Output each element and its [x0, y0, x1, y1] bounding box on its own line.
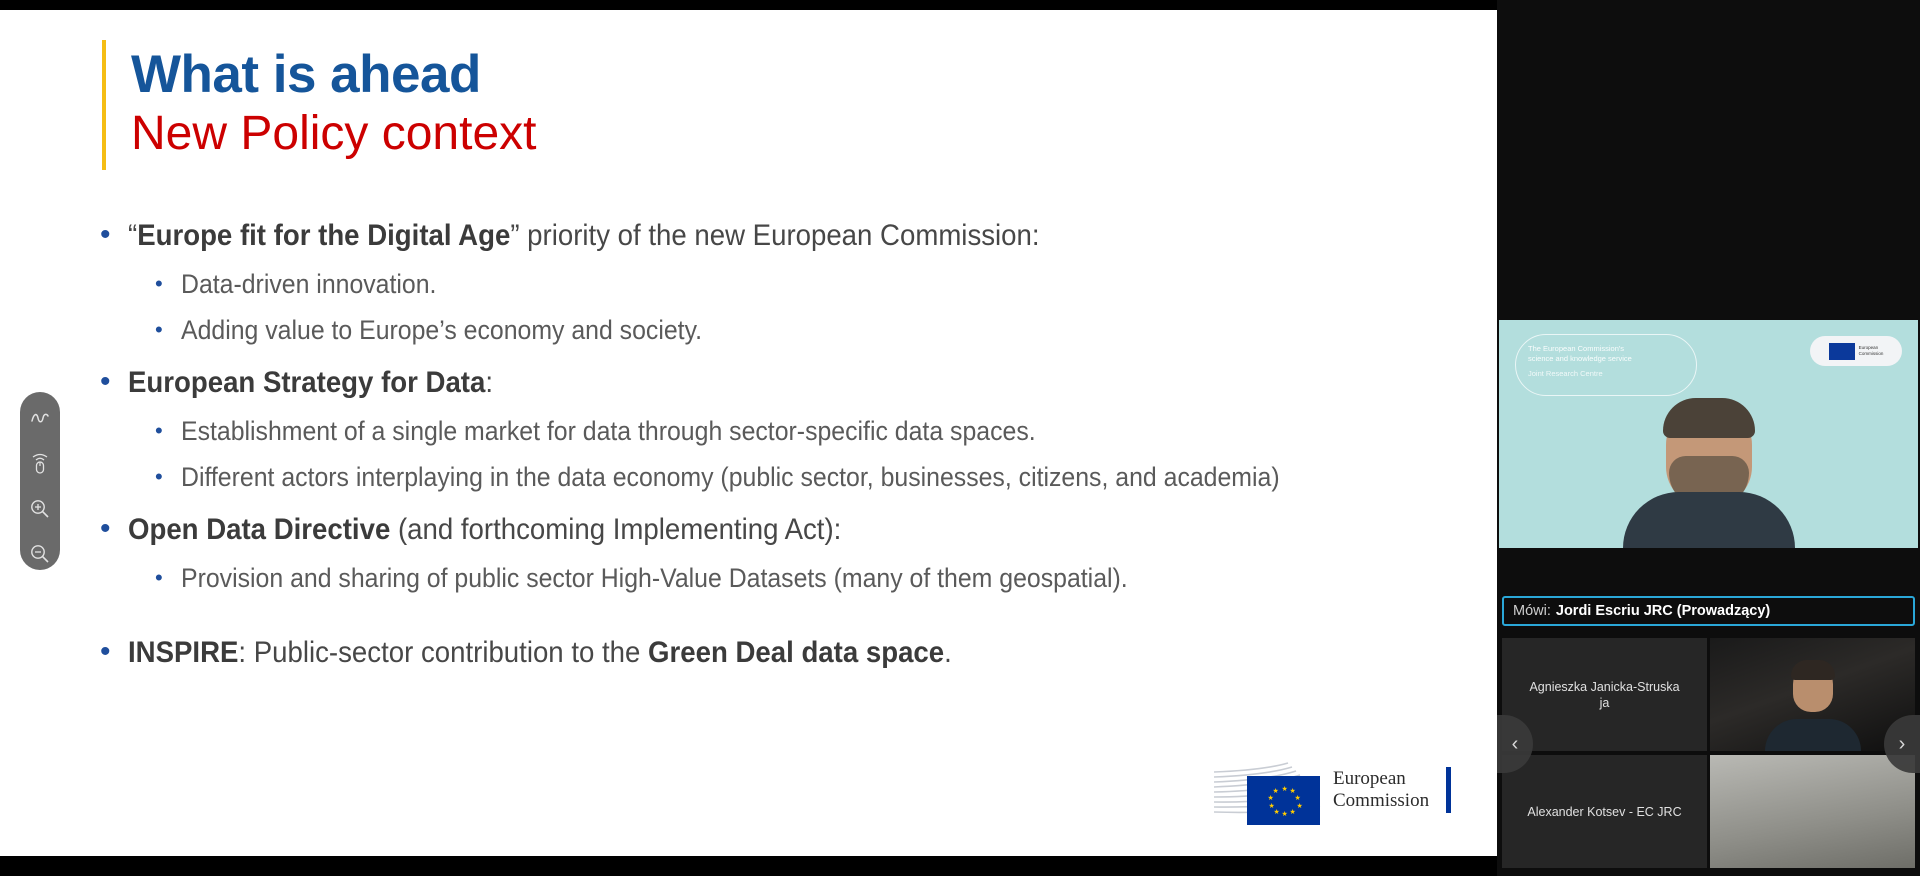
ec-logo-line2: Commission — [1333, 790, 1429, 812]
bullet-dot-icon: • — [155, 460, 181, 494]
speaker-name: Jordi Escriu JRC (Prowadzący) — [1556, 603, 1770, 619]
zoom-out-icon[interactable] — [23, 539, 57, 571]
bullet-text: Data-driven innovation. — [181, 267, 436, 301]
participant-torso — [1765, 719, 1861, 751]
eu-stars: ★★ ★★ ★★ ★★ ★★ — [1269, 786, 1299, 816]
laser-pointer-icon[interactable] — [23, 448, 57, 480]
bullet-text: “Europe fit for the Digital Age” priorit… — [128, 217, 1040, 255]
bullet-dot-icon: • — [100, 511, 128, 547]
bullet-dot-icon: • — [100, 217, 128, 253]
ec-logo-rule — [1446, 767, 1451, 813]
slide-title-block: What is ahead New Policy context — [131, 46, 537, 162]
bullet-text: Establishment of a single market for dat… — [181, 414, 1036, 448]
participant-tile[interactable]: Alexander Kotsev - EC JRC — [1502, 755, 1707, 868]
bullet-level1: •“Europe fit for the Digital Age” priori… — [100, 217, 1430, 255]
slide-title: What is ahead — [131, 46, 537, 104]
presentation-stage: What is ahead New Policy context •“Europ… — [0, 10, 1497, 856]
participant-hair — [1791, 660, 1835, 680]
annotate-pen-icon[interactable] — [23, 402, 57, 434]
active-speaker-label: Mówi: Jordi Escriu JRC (Prowadzący) — [1502, 596, 1915, 626]
ec-logo-text: European Commission — [1333, 768, 1429, 812]
bullet-level2: •Establishment of a single market for da… — [100, 414, 1430, 448]
participant-tile[interactable]: Agnieszka Janicka-Struskaja — [1502, 638, 1707, 751]
slide-bullet-list: •“Europe fit for the Digital Age” priori… — [100, 200, 1430, 672]
speaker-prefix: Mówi: — [1513, 603, 1551, 619]
bullet-level2: •Data-driven innovation. — [100, 267, 1430, 301]
speaker-figure — [1624, 398, 1794, 548]
bullet-text: Open Data Directive (and forthcoming Imp… — [128, 511, 841, 549]
bullet-dot-icon: • — [155, 267, 181, 301]
bullet-text: Different actors interplaying in the dat… — [181, 460, 1280, 494]
ec-logo-line1: European — [1333, 768, 1429, 790]
bullet-dot-icon: • — [155, 561, 181, 595]
bullet-text: INSPIRE: Public-sector contribution to t… — [128, 634, 952, 672]
annotation-toolbar[interactable] — [20, 392, 60, 570]
bullet-dot-icon: • — [155, 313, 181, 347]
jrc-name: Joint Research Centre — [1528, 368, 1684, 379]
bullet-spacer — [100, 595, 1430, 617]
jrc-branding-pill: The European Commission's science and kn… — [1515, 334, 1697, 396]
european-commission-logo: ★★ ★★ ★★ ★★ ★★ European Commission — [1212, 762, 1451, 818]
participant-name: Alexander Kotsev - EC JRC — [1517, 804, 1691, 820]
slide-canvas[interactable]: What is ahead New Policy context •“Europ… — [0, 10, 1497, 856]
speaker-hair — [1663, 398, 1755, 438]
bullet-text: Provision and sharing of public sector H… — [181, 561, 1128, 595]
screen-root: What is ahead New Policy context •“Europ… — [0, 0, 1920, 876]
thumbnail-row: Agnieszka Janicka-Struskaja — [1502, 638, 1915, 751]
zoom-in-icon[interactable] — [23, 493, 57, 525]
bullet-level1: •Open Data Directive (and forthcoming Im… — [100, 511, 1430, 549]
bullet-dot-icon: • — [100, 634, 128, 670]
bullet-dot-icon: • — [155, 414, 181, 448]
ec-badge-line2: Commission — [1859, 351, 1884, 357]
ec-logo-badge: European Commission — [1810, 336, 1902, 366]
slide-subtitle: New Policy context — [131, 106, 537, 162]
bullet-text: European Strategy for Data: — [128, 364, 493, 402]
participant-thumbnail-grid: Agnieszka Janicka-Struskaja Alexander Ko… — [1502, 638, 1915, 868]
bullet-level1: •INSPIRE: Public-sector contribution to … — [100, 634, 1430, 672]
jrc-tagline-line1: The European Commission's — [1528, 344, 1684, 354]
bullet-dot-icon: • — [100, 364, 128, 400]
eu-flag: ★★ ★★ ★★ ★★ ★★ — [1247, 776, 1320, 825]
participant-name: Agnieszka Janicka-Struskaja — [1519, 679, 1689, 711]
speaker-torso — [1623, 492, 1795, 548]
participant-tile[interactable] — [1710, 755, 1915, 868]
bullet-level2: •Adding value to Europe’s economy and so… — [100, 313, 1430, 347]
bullet-level2: •Different actors interplaying in the da… — [100, 460, 1430, 494]
eu-flag-mini — [1829, 343, 1855, 360]
bullet-level2: •Provision and sharing of public sector … — [100, 561, 1430, 595]
jrc-tagline-line2: science and knowledge service — [1528, 354, 1684, 364]
ec-fan-graphic: ★★ ★★ ★★ ★★ ★★ — [1212, 762, 1324, 818]
meeting-sidebar: The European Commission's science and kn… — [1497, 0, 1920, 876]
active-speaker-video[interactable]: The European Commission's science and kn… — [1499, 320, 1918, 548]
thumbnail-row: Alexander Kotsev - EC JRC — [1502, 755, 1915, 868]
bullet-text: Adding value to Europe’s economy and soc… — [181, 313, 702, 347]
title-accent-rule — [102, 40, 106, 170]
bullet-level1: •European Strategy for Data: — [100, 364, 1430, 402]
participant-tile[interactable] — [1710, 638, 1915, 751]
